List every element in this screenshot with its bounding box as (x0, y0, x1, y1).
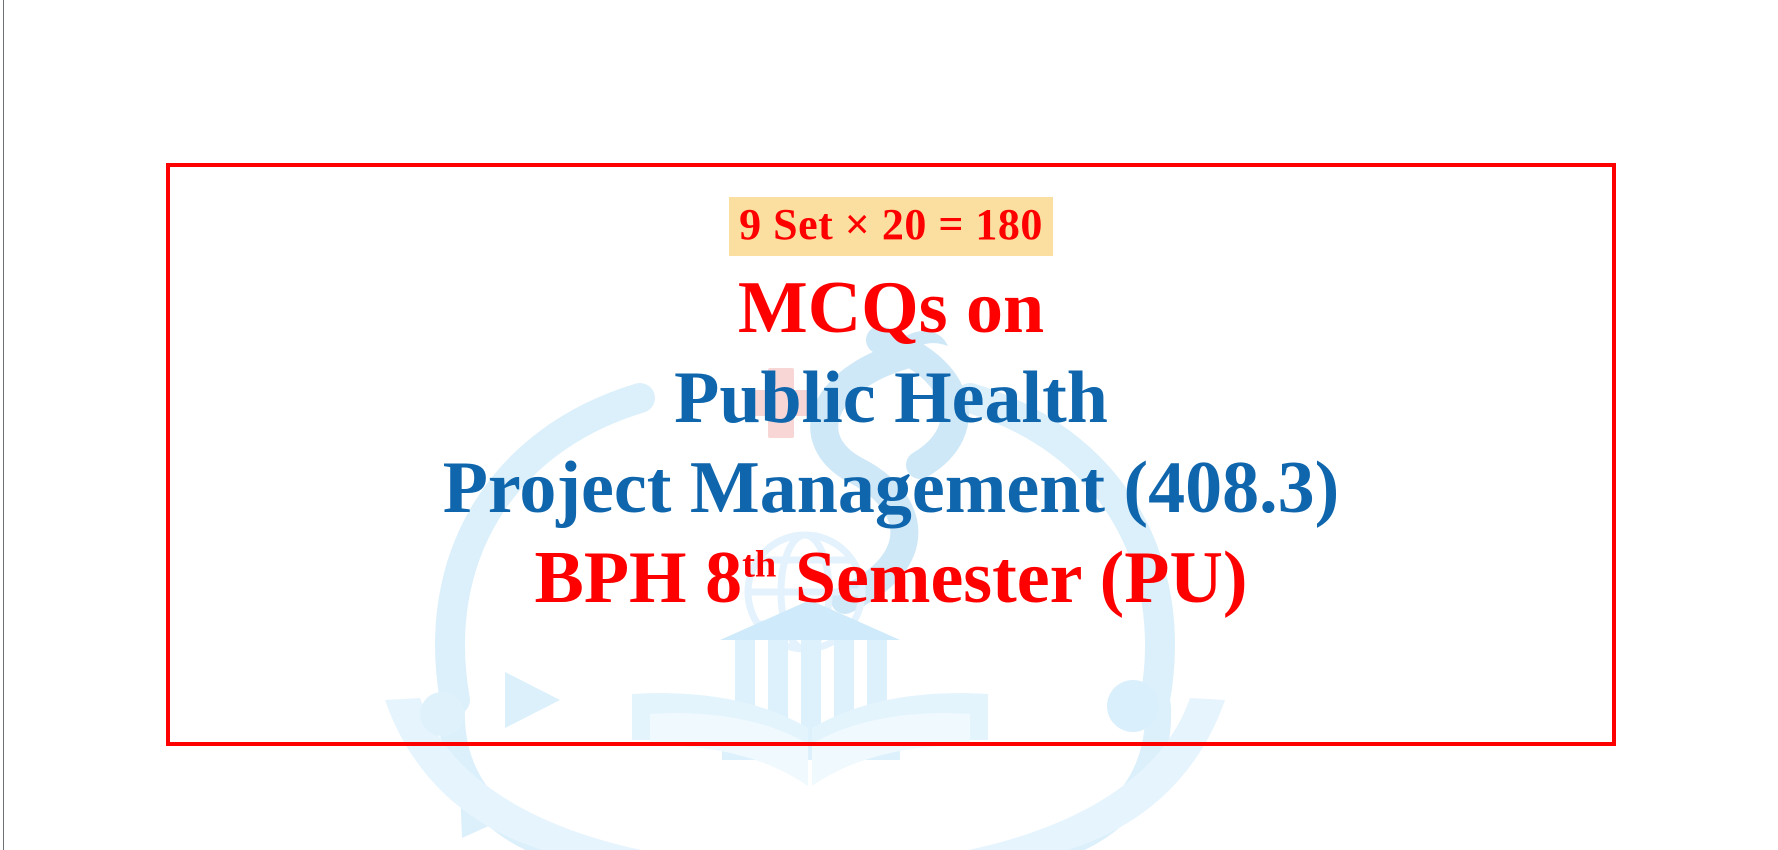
program-line: BPH 8th Semester (PU) (170, 541, 1612, 615)
title-box: 9 Set × 20 = 180 MCQs on Public Health P… (166, 163, 1616, 746)
course-line: Project Management (408.3) (170, 451, 1612, 525)
slide-left-edge (3, 0, 4, 850)
question-count-line: 9 Set × 20 = 180 (170, 203, 1612, 247)
mcqs-heading: MCQs on (170, 271, 1612, 345)
program-ordinal-suffix: th (742, 543, 776, 585)
program-prefix: BPH 8 (534, 537, 742, 619)
question-count-highlight: 9 Set × 20 = 180 (729, 197, 1053, 256)
program-suffix: Semester (PU) (776, 537, 1247, 619)
slide-canvas: 9 Set × 20 = 180 MCQs on Public Health P… (0, 0, 1778, 850)
subject-line: Public Health (170, 361, 1612, 435)
